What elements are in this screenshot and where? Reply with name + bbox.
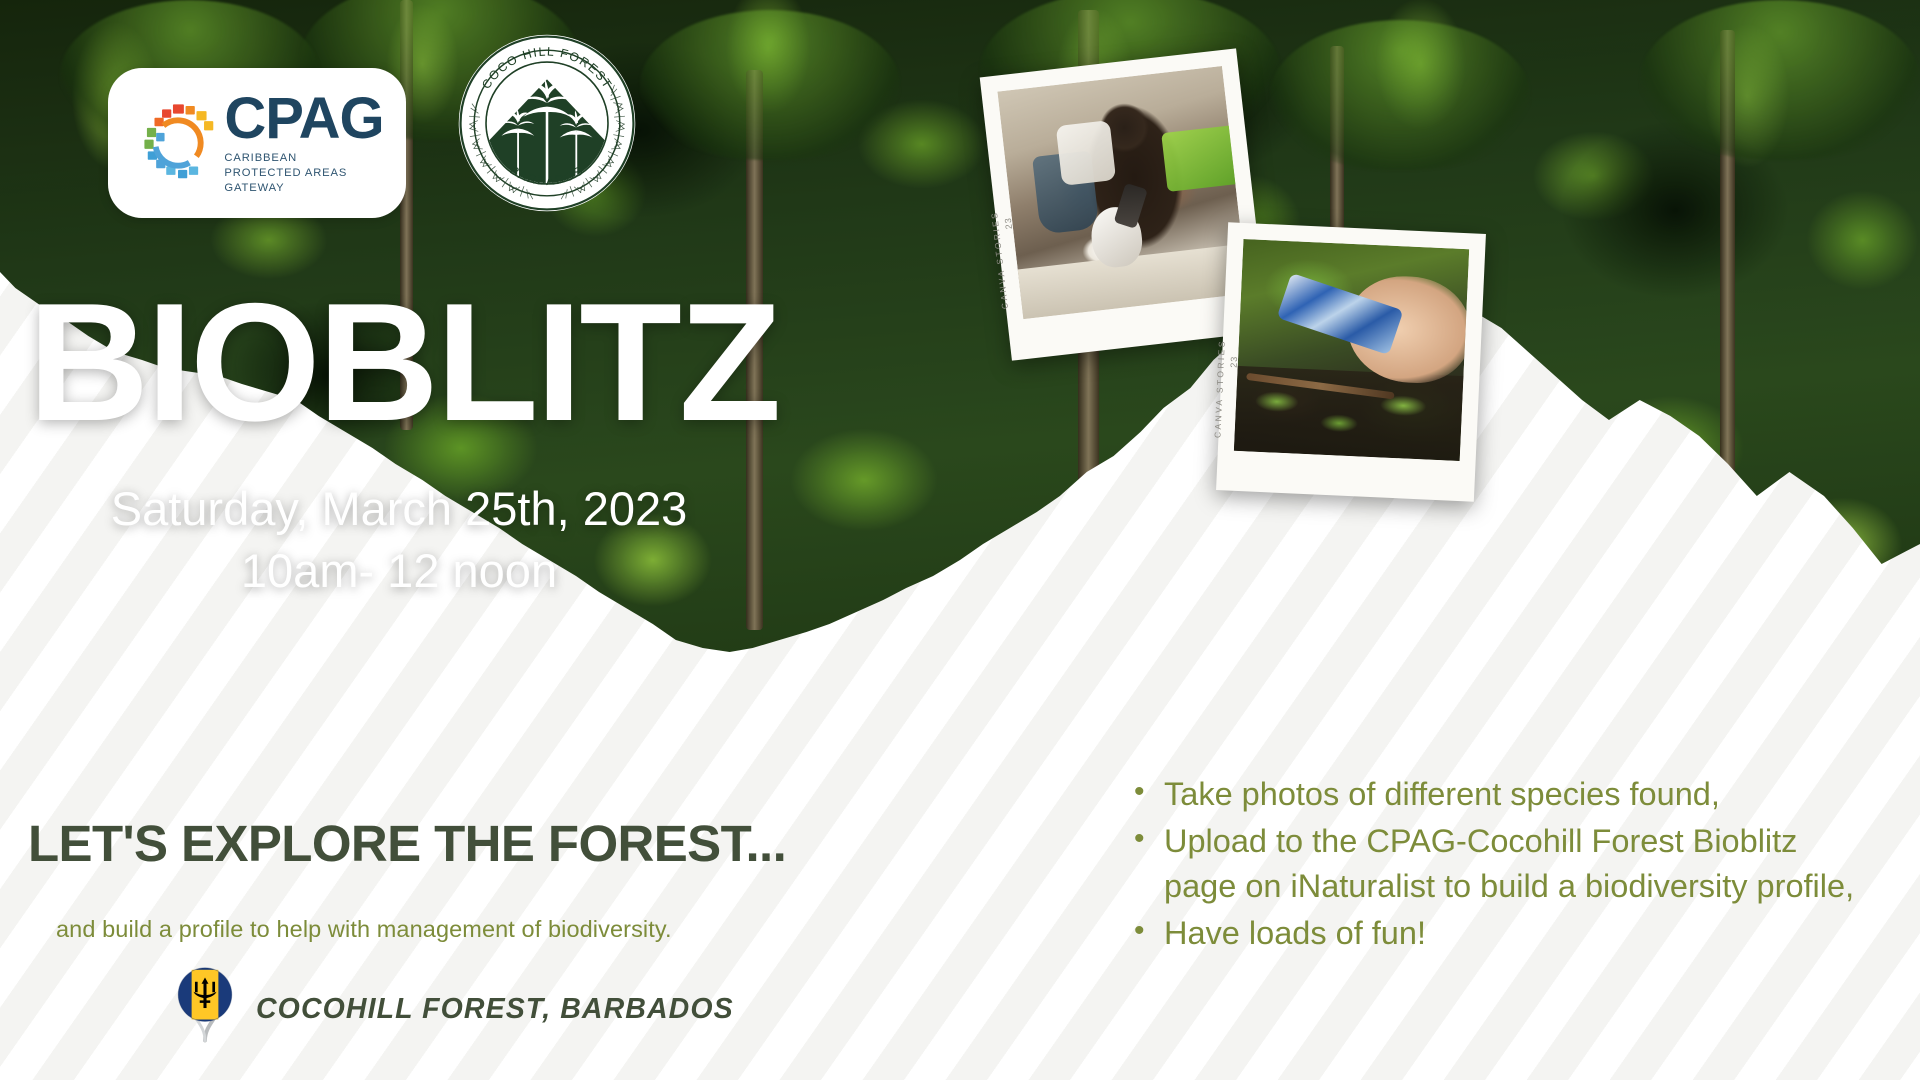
cpag-tagline-line1: CARIBBEAN (224, 151, 383, 166)
lizard-photo (1234, 239, 1469, 461)
location-label: COCOHILL FOREST, BARBADOS (256, 993, 734, 1026)
explore-headline: LET'S EXPLORE THE FOREST... (28, 818, 786, 869)
event-time: 10am- 12 noon (74, 542, 724, 600)
event-date: Saturday, March 25th, 2023 (74, 480, 724, 538)
list-item: Take photos of different species found, (1128, 772, 1868, 817)
microscope-eyepiece-shape (1114, 182, 1148, 228)
page-title: BIOBLITZ (28, 278, 779, 446)
list-item: Upload to the CPAG-Cocohill Forest Biobl… (1128, 819, 1868, 909)
palm-frond (1270, 20, 1530, 170)
coco-hill-forest-seal: COCO HILL FOREST BARBADOS (456, 32, 638, 214)
photo-polaroid-lizard: CANVA STORIES 23 (1216, 222, 1486, 501)
bioblitz-poster: CPAG CARIBBEAN PROTECTED AREAS GATEWAY (0, 0, 1920, 1080)
palm-frond (1640, 0, 1920, 160)
cpag-acronym: CPAG (224, 90, 383, 148)
barbados-map-pin-icon (176, 966, 234, 1052)
location-row: COCOHILL FOREST, BARBADOS (176, 966, 734, 1052)
green-object-shape (1161, 124, 1244, 192)
person-background-shape (1056, 120, 1117, 185)
explore-subheadline: and build a profile to help with managem… (56, 916, 672, 943)
polaroid-frame-number: 23 (1003, 216, 1014, 229)
cpag-mark-icon (136, 101, 220, 185)
instructions-list: Take photos of different species found, … (1128, 772, 1868, 957)
polaroid-frame-number: 23 (1229, 355, 1240, 367)
palm-frond (640, 10, 900, 160)
cpag-tagline-line2: PROTECTED AREAS (224, 166, 383, 181)
cpag-tagline-line3: GATEWAY (224, 181, 383, 196)
microscope-photo (997, 66, 1247, 319)
cpag-logo-card: CPAG CARIBBEAN PROTECTED AREAS GATEWAY (108, 68, 406, 218)
list-item: Have loads of fun! (1128, 911, 1868, 956)
